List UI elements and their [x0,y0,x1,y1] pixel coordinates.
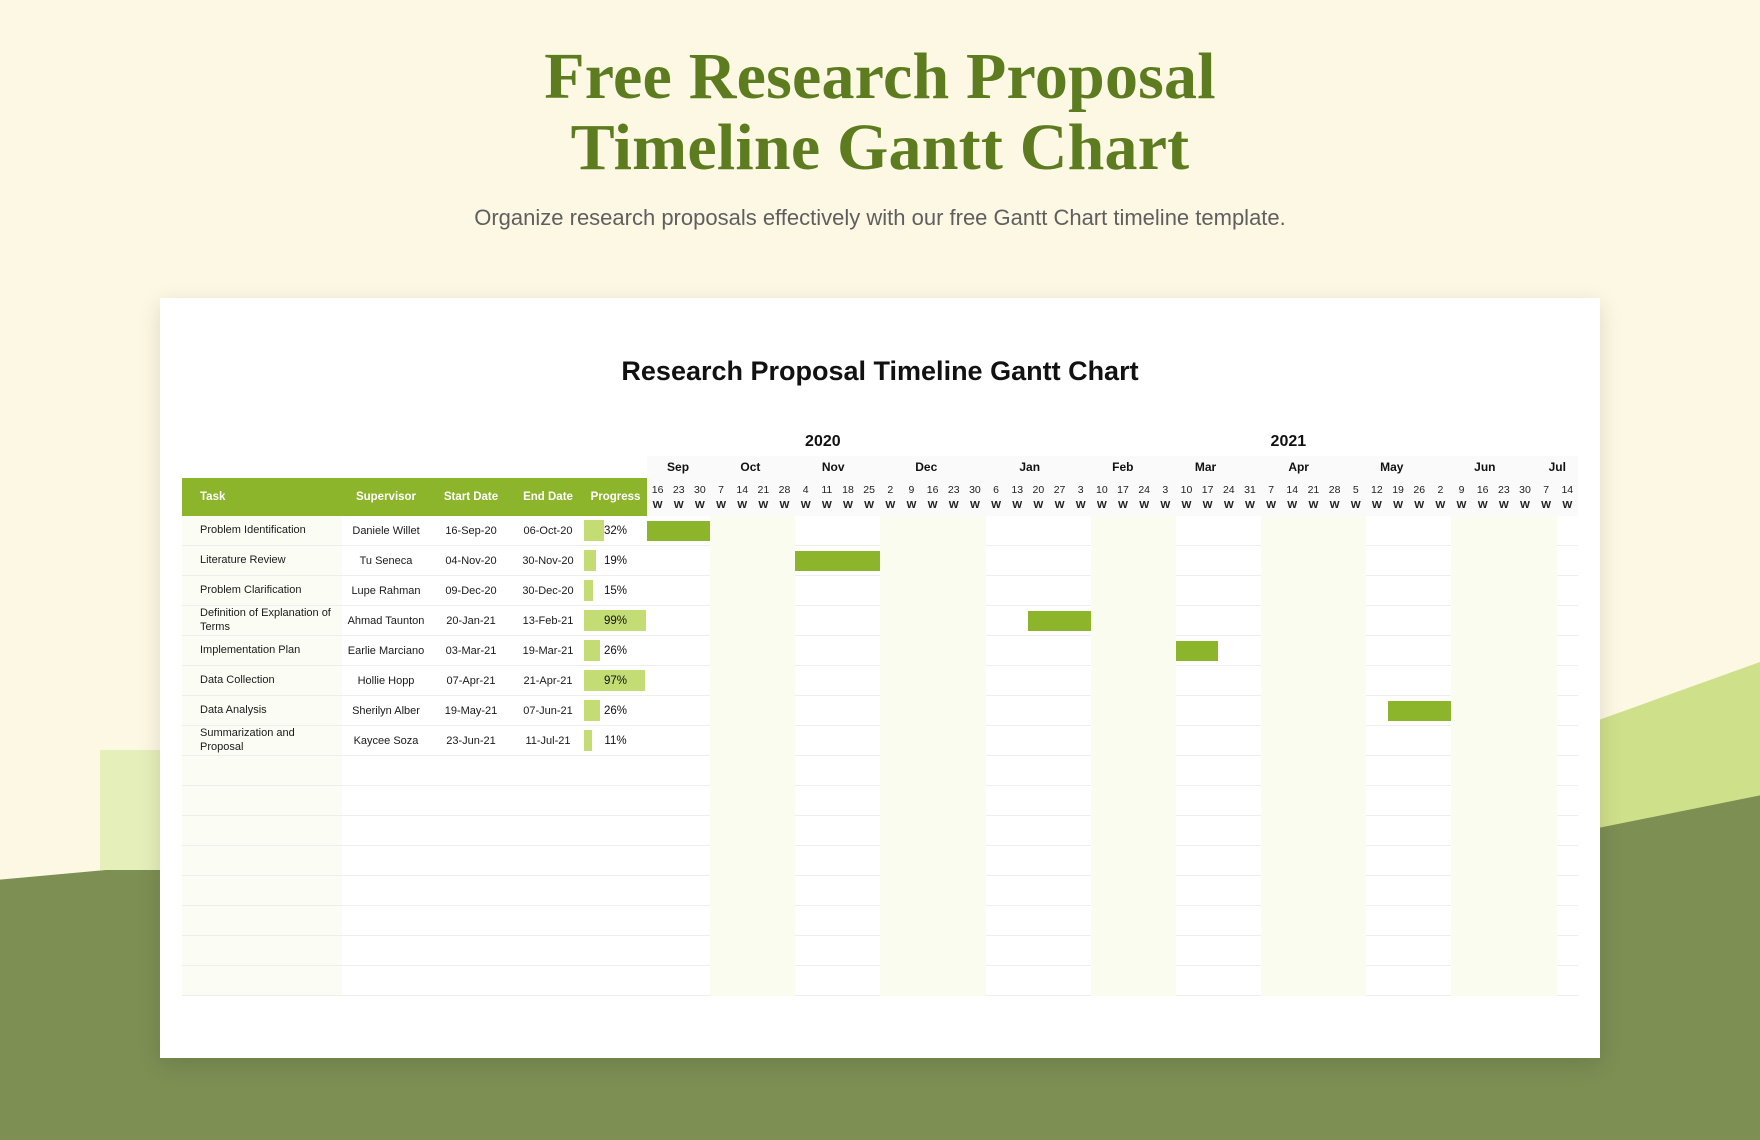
timeline-week-unit: W [843,499,853,511]
timeline-week-cell: 24W [1218,478,1239,516]
gantt-bar[interactable] [1028,611,1113,631]
timeline-week-cell: 10W [1091,478,1112,516]
page-subtitle: Organize research proposals effectively … [0,205,1760,231]
timeline-week-date: 14 [1286,484,1298,496]
empty-timeline-row[interactable] [647,786,1578,816]
cell-progress: 99% [584,606,647,635]
timeline-week-unit: W [1520,499,1530,511]
timeline-week-unit: W [906,499,916,511]
timeline-week-unit: W [653,499,663,511]
timeline-week-unit: W [1033,499,1043,511]
timeline-week-unit: W [1224,499,1234,511]
empty-timeline-row[interactable] [647,936,1578,966]
column-header-progress: Progress [584,491,647,503]
timeline-week-date: 14 [1561,484,1573,496]
timeline-week-cell: 26W [1409,478,1430,516]
timeline-week-unit: W [1245,499,1255,511]
timeline-week-unit: W [1499,499,1509,511]
page-title: Free Research Proposal Timeline Gantt Ch… [0,42,1760,183]
gantt-bar[interactable] [1261,671,1324,691]
timeline-week-date: 31 [1244,484,1256,496]
cell-start-date: 04-Nov-20 [430,546,512,575]
cell-progress: 19% [584,546,647,575]
left-month-spacer [182,456,647,478]
timeline-week-date: 4 [803,484,809,496]
page-title-line-2: Timeline Gantt Chart [0,113,1760,184]
cell-task: Summarization and Proposal [182,726,342,755]
timeline-week-cell: 27W [1049,478,1070,516]
cell-progress: 26% [584,636,647,665]
timeline-week-unit: W [864,499,874,511]
cell-end-date: 30-Nov-20 [512,546,584,575]
timeline-row[interactable] [647,666,1578,696]
timeline-week-unit: W [1414,499,1424,511]
progress-value-label: 26% [584,705,647,717]
timeline-month-label: Sep [647,456,709,478]
timeline-week-cell: 14W [1282,478,1303,516]
timeline-week-cell: 17W [1112,478,1133,516]
timeline-week-cell: 2W [1430,478,1451,516]
timeline-week-date: 11 [821,484,832,496]
empty-timeline-row[interactable] [647,876,1578,906]
timeline-week-date: 9 [1459,484,1465,496]
timeline-week-unit: W [1541,499,1551,511]
timeline-week-unit: W [1478,499,1488,511]
spreadsheet-canvas: Research Proposal Timeline Gantt Chart T… [160,298,1600,1058]
timeline-week-date: 23 [948,484,960,496]
timeline-week-unit: W [716,499,726,511]
cell-end-date: 13-Feb-21 [512,606,584,635]
timeline-row[interactable] [647,726,1578,756]
empty-table-row[interactable] [182,756,647,786]
empty-task-cell [182,966,342,995]
cell-end-date: 11-Jul-21 [512,726,584,755]
timeline-week-unit: W [695,499,705,511]
timeline-week-cell: 23W [668,478,689,516]
cell-task: Implementation Plan [182,636,342,665]
timeline-week-unit: W [1287,499,1297,511]
cell-end-date: 06-Oct-20 [512,516,584,545]
timeline-week-cell: 18W [837,478,858,516]
page-title-line-1: Free Research Proposal [0,42,1760,113]
timeline-week-unit: W [1372,499,1382,511]
cell-end-date: 21-Apr-21 [512,666,584,695]
timeline-week-cell: 3W [1070,478,1091,516]
timeline-week-cell: 25W [859,478,880,516]
empty-table-row[interactable] [182,936,647,966]
cell-supervisor: Earlie Marciano [342,636,430,665]
timeline-week-cell: 14W [732,478,753,516]
cell-start-date: 07-Apr-21 [430,666,512,695]
cell-end-date: 19-Mar-21 [512,636,584,665]
timeline-row[interactable] [647,696,1578,726]
progress-value-label: 32% [584,525,647,537]
timeline-week-unit: W [1076,499,1086,511]
table-row[interactable]: Data CollectionHollie Hopp07-Apr-2121-Ap… [182,666,647,696]
progress-value-label: 26% [584,645,647,657]
timeline-week-date: 9 [909,484,915,496]
gantt-bar[interactable] [1155,641,1218,661]
cell-end-date: 30-Dec-20 [512,576,584,605]
timeline-row[interactable] [647,516,1578,546]
timeline-month-row: SepOctNovDecJanFebMarAprMayJunJul [647,456,1578,478]
timeline-week-date: 7 [1543,484,1549,496]
timeline-week-date: 26 [1413,484,1425,496]
timeline-week-unit: W [1097,499,1107,511]
cell-start-date: 09-Dec-20 [430,576,512,605]
timeline-week-unit: W [1160,499,1170,511]
timeline-week-unit: W [991,499,1001,511]
timeline-week-date: 3 [1078,484,1084,496]
timeline-row[interactable] [647,546,1578,576]
empty-row-rest [342,756,647,785]
timeline-week-cell: 21W [753,478,774,516]
column-header-supervisor: Supervisor [342,491,430,503]
empty-task-cell [182,876,342,905]
timeline-week-unit: W [780,499,790,511]
gantt-bar[interactable] [1493,731,1556,751]
timeline-week-date: 23 [1498,484,1510,496]
column-header-end-date: End Date [512,491,584,503]
empty-row-rest [342,816,647,845]
timeline-week-date: 17 [1117,484,1129,496]
timeline-week-cell: 14W [1557,478,1578,516]
empty-row-rest [342,876,647,905]
timeline-week-date: 23 [673,484,685,496]
timeline-week-unit: W [1266,499,1276,511]
timeline-week-row: 16W23W30W7W14W21W28W4W11W18W25W2W9W16W23… [647,478,1578,516]
timeline-row[interactable] [647,606,1578,636]
timeline-week-date: 24 [1223,484,1235,496]
empty-row-rest [342,906,647,935]
progress-value-label: 11% [584,735,647,747]
timeline-week-date: 30 [969,484,981,496]
timeline-week-cell: 2W [880,478,901,516]
empty-table-row[interactable] [182,876,647,906]
timeline-week-date: 16 [927,484,939,496]
timeline-week-date: 12 [1371,484,1383,496]
empty-task-cell [182,816,342,845]
cell-progress: 32% [584,516,647,545]
gantt-chart: Task Supervisor Start Date End Date Prog… [182,428,1578,1058]
empty-table-row[interactable] [182,966,647,996]
timeline-week-unit: W [949,499,959,511]
cell-start-date: 20-Jan-21 [430,606,512,635]
progress-value-label: 97% [584,675,647,687]
timeline-week-date: 27 [1054,484,1066,496]
timeline-week-cell: 12W [1366,478,1387,516]
timeline-week-unit: W [674,499,684,511]
chart-title: Research Proposal Timeline Gantt Chart [160,356,1600,387]
cell-task: Data Collection [182,666,342,695]
empty-task-cell [182,936,342,965]
timeline-month-label: Dec [875,456,978,478]
timeline-year-row: 20202021 [647,428,1578,456]
timeline-week-date: 30 [694,484,706,496]
empty-timeline-row[interactable] [647,816,1578,846]
cell-progress: 11% [584,726,647,755]
timeline-week-unit: W [1203,499,1213,511]
timeline-week-cell: 3W [1155,478,1176,516]
table-row[interactable]: Data AnalysisSherilyn Alber19-May-2107-J… [182,696,647,726]
timeline-month-label: Mar [1164,456,1247,478]
cell-end-date: 07-Jun-21 [512,696,584,725]
timeline-week-cell: 30W [689,478,710,516]
page-header: Free Research Proposal Timeline Gantt Ch… [0,0,1760,231]
timeline-pane: 20202021 SepOctNovDecJanFebMarAprMayJunJ… [647,428,1578,1058]
empty-table-row[interactable] [182,906,647,936]
gantt-bar[interactable] [1388,701,1451,721]
cell-supervisor: Kaycee Soza [342,726,430,755]
timeline-week-date: 10 [1181,484,1193,496]
progress-value-label: 15% [584,585,647,597]
table-row[interactable]: Problem IdentificationDaniele Willet16-S… [182,516,647,546]
timeline-week-cell: 4W [795,478,816,516]
timeline-week-cell: 31W [1239,478,1260,516]
timeline-week-date: 28 [1329,484,1341,496]
cell-start-date: 16-Sep-20 [430,516,512,545]
gantt-bar[interactable] [901,581,986,601]
timeline-week-unit: W [1330,499,1340,511]
timeline-row[interactable] [647,636,1578,666]
timeline-month-label: Jul [1537,456,1578,478]
timeline-week-date: 16 [652,484,664,496]
timeline-week-cell: 5W [1345,478,1366,516]
timeline-week-unit: W [737,499,747,511]
empty-timeline-row[interactable] [647,756,1578,786]
timeline-week-date: 24 [1138,484,1150,496]
cell-task: Problem Clarification [182,576,342,605]
timeline-week-unit: W [885,499,895,511]
timeline-week-cell: 16W [1472,478,1493,516]
timeline-week-unit: W [1308,499,1318,511]
left-year-spacer [182,428,647,456]
timeline-month-label: Apr [1247,456,1350,478]
cell-task: Literature Review [182,546,342,575]
table-row[interactable]: Definition of Explanation of TermsAhmad … [182,606,647,636]
cell-supervisor: Lupe Rahman [342,576,430,605]
timeline-week-date: 7 [718,484,724,496]
timeline-week-unit: W [822,499,832,511]
gantt-bar[interactable] [647,521,710,541]
timeline-month-label: May [1350,456,1433,478]
empty-table-row[interactable] [182,846,647,876]
timeline-week-unit: W [970,499,980,511]
table-row[interactable]: Literature ReviewTu Seneca04-Nov-2030-No… [182,546,647,576]
cell-start-date: 19-May-21 [430,696,512,725]
timeline-week-cell: 7W [1261,478,1282,516]
timeline-week-unit: W [928,499,938,511]
timeline-week-unit: W [1393,499,1403,511]
timeline-week-cell: 7W [1536,478,1557,516]
timeline-week-cell: 20W [1028,478,1049,516]
timeline-month-label: Nov [792,456,875,478]
cell-task: Data Analysis [182,696,342,725]
timeline-week-cell: 9W [901,478,922,516]
timeline-week-cell: 16W [922,478,943,516]
timeline-week-unit: W [1182,499,1192,511]
timeline-month-label: Oct [709,456,792,478]
timeline-week-cell: 28W [774,478,795,516]
timeline-week-date: 30 [1519,484,1531,496]
timeline-week-cell: 17W [1197,478,1218,516]
timeline-week-unit: W [1012,499,1022,511]
cell-progress: 26% [584,696,647,725]
table-row[interactable]: Summarization and ProposalKaycee Soza23-… [182,726,647,756]
column-header-start-date: Start Date [430,491,512,503]
empty-table-row[interactable] [182,816,647,846]
empty-row-rest [342,846,647,875]
timeline-week-unit: W [1118,499,1128,511]
cell-supervisor: Ahmad Taunton [342,606,430,635]
empty-timeline-row[interactable] [647,966,1578,996]
timeline-week-date: 28 [779,484,791,496]
timeline-week-date: 2 [1437,484,1443,496]
timeline-week-date: 10 [1096,484,1108,496]
cell-task: Definition of Explanation of Terms [182,606,342,635]
cell-start-date: 23-Jun-21 [430,726,512,755]
empty-timeline-row[interactable] [647,846,1578,876]
timeline-month-label: Jun [1433,456,1536,478]
progress-value-label: 99% [584,615,647,627]
timeline-week-cell: 21W [1303,478,1324,516]
timeline-week-unit: W [1435,499,1445,511]
timeline-week-cell: 24W [1134,478,1155,516]
cell-supervisor: Hollie Hopp [342,666,430,695]
timeline-week-cell: 10W [1176,478,1197,516]
cell-progress: 15% [584,576,647,605]
timeline-week-unit: W [1562,499,1572,511]
timeline-week-cell: 28W [1324,478,1345,516]
timeline-week-date: 13 [1011,484,1023,496]
empty-task-cell [182,846,342,875]
empty-row-rest [342,936,647,965]
timeline-week-unit: W [1457,499,1467,511]
task-table-body: Problem IdentificationDaniele Willet16-S… [182,516,647,996]
timeline-week-cell: 23W [1493,478,1514,516]
timeline-week-cell: 30W [964,478,985,516]
empty-task-cell [182,756,342,785]
timeline-week-date: 3 [1162,484,1168,496]
timeline-week-cell: 7W [710,478,731,516]
cell-start-date: 03-Mar-21 [430,636,512,665]
timeline-week-date: 21 [758,484,770,496]
empty-task-cell [182,786,342,815]
timeline-week-unit: W [1351,499,1361,511]
empty-row-rest [342,786,647,815]
column-header-task: Task [182,491,342,503]
timeline-week-date: 18 [842,484,854,496]
timeline-week-unit: W [758,499,768,511]
timeline-bars-body [647,516,1578,996]
cell-supervisor: Sherilyn Alber [342,696,430,725]
timeline-week-date: 16 [1477,484,1489,496]
timeline-week-date: 2 [887,484,893,496]
timeline-week-date: 17 [1202,484,1214,496]
progress-value-label: 19% [584,555,647,567]
timeline-month-label: Feb [1081,456,1164,478]
timeline-week-date: 5 [1353,484,1359,496]
empty-row-rest [342,966,647,995]
timeline-week-date: 20 [1033,484,1045,496]
cell-progress: 97% [584,666,647,695]
task-table-pane: Task Supervisor Start Date End Date Prog… [182,428,647,1058]
cell-task: Problem Identification [182,516,342,545]
timeline-week-date: 14 [736,484,748,496]
timeline-week-cell: 9W [1451,478,1472,516]
cell-supervisor: Tu Seneca [342,546,430,575]
empty-task-cell [182,906,342,935]
timeline-year-label: 2020 [647,433,999,451]
timeline-week-cell: 30W [1514,478,1535,516]
timeline-week-cell: 11W [816,478,837,516]
timeline-week-cell: 16W [647,478,668,516]
timeline-row[interactable] [647,576,1578,606]
gantt-bar[interactable] [795,551,880,571]
empty-timeline-row[interactable] [647,906,1578,936]
cell-supervisor: Daniele Willet [342,516,430,545]
timeline-week-date: 6 [993,484,999,496]
timeline-week-cell: 19W [1387,478,1408,516]
timeline-week-date: 19 [1392,484,1404,496]
empty-table-row[interactable] [182,786,647,816]
timeline-week-unit: W [1139,499,1149,511]
table-row[interactable]: Problem ClarificationLupe Rahman09-Dec-2… [182,576,647,606]
timeline-week-date: 25 [863,484,875,496]
timeline-week-cell: 6W [986,478,1007,516]
timeline-week-cell: 23W [943,478,964,516]
timeline-week-date: 7 [1268,484,1274,496]
table-header-row: Task Supervisor Start Date End Date Prog… [182,478,647,516]
timeline-week-cell: 13W [1007,478,1028,516]
timeline-month-label: Jan [978,456,1081,478]
timeline-week-unit: W [801,499,811,511]
timeline-year-label: 2021 [999,433,1578,451]
timeline-week-date: 21 [1308,484,1320,496]
table-row[interactable]: Implementation PlanEarlie Marciano03-Mar… [182,636,647,666]
timeline-week-unit: W [1055,499,1065,511]
